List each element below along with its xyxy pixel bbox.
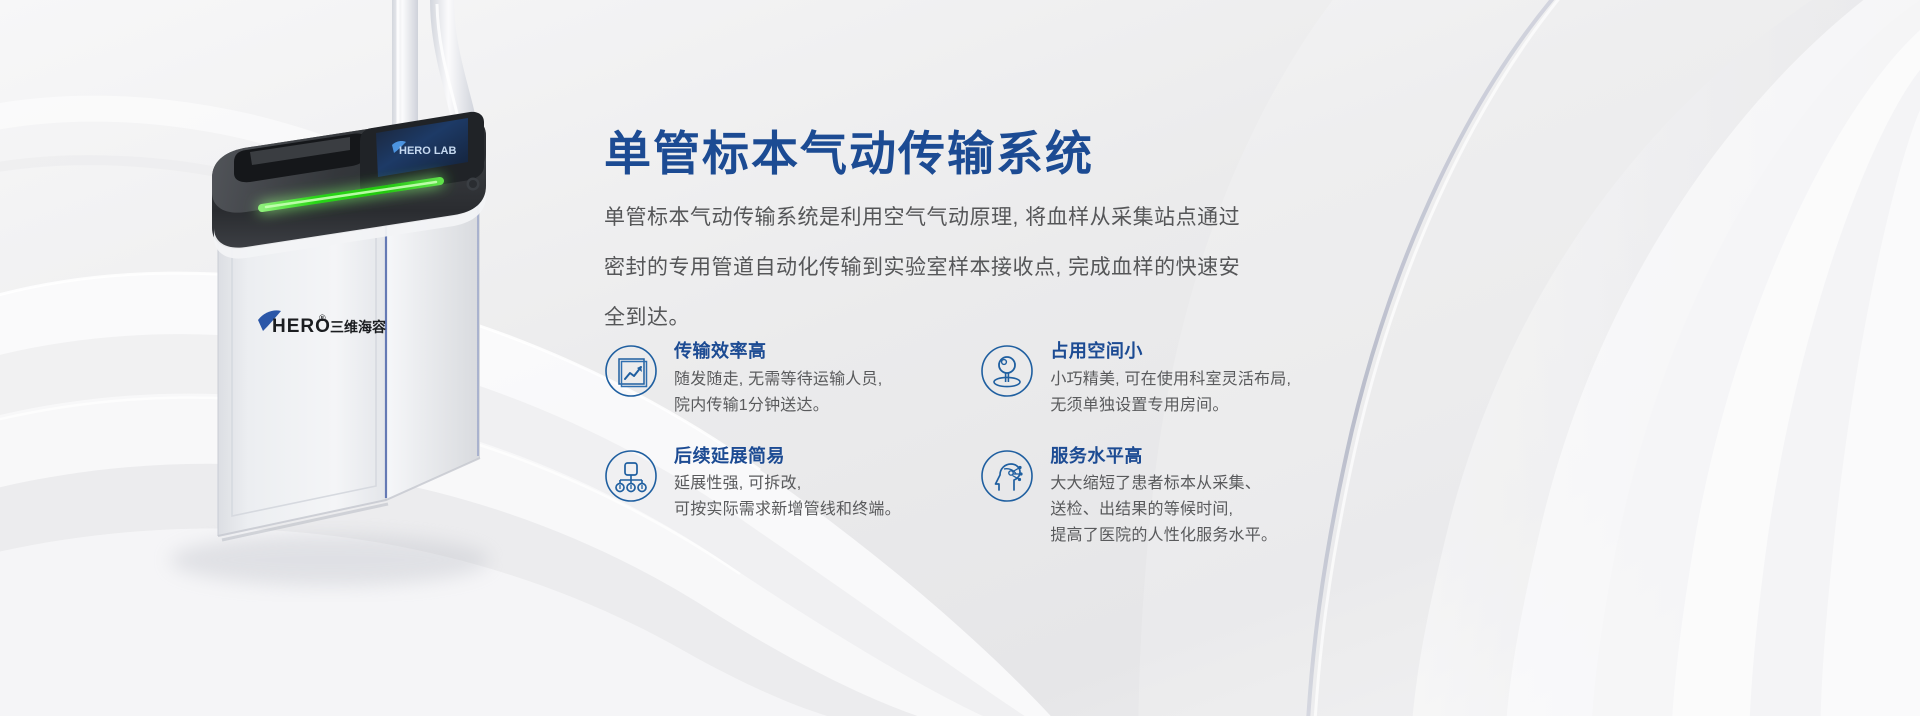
feature-item-service-level[interactable]: 服务水平高 大大缩短了患者标本从采集、 送检、出结果的等候时间, 提高了医院的人… — [980, 445, 1294, 550]
feature-text: 服务水平高 大大缩短了患者标本从采集、 送检、出结果的等候时间, 提高了医院的人… — [1050, 445, 1277, 550]
device-logo-registered: ® — [319, 313, 326, 323]
screen-logo-text: HERO LAB — [399, 145, 457, 157]
hero-content: 单管标本气动传输系统 单管标本气动传输系统是利用空气气动原理, 将血样从采集站点… — [604, 0, 1604, 716]
feature-heading: 后续延展简易 — [674, 446, 901, 467]
smart-head-icon — [980, 449, 1034, 503]
feature-body: 小巧精美, 可在使用科室灵活布局, 无须单独设置专用房间。 — [1050, 367, 1291, 419]
feature-body: 随发随走, 无需等待运输人员, 院内传输1分钟送达。 — [674, 367, 882, 419]
feature-row-1: 传输效率高 随发随走, 无需等待运输人员, 院内传输1分钟送达。 — [604, 340, 1294, 419]
feature-body: 大大缩短了患者标本从采集、 送检、出结果的等候时间, 提高了医院的人性化服务水平… — [1050, 471, 1277, 549]
feature-item-easy-expansion[interactable]: 后续延展简易 延展性强, 可拆改, 可按实际需求新增管线和终端。 — [604, 445, 980, 550]
pneumatic-tubes — [392, 0, 476, 126]
feature-body: 延展性强, 可拆改, 可按实际需求新增管线和终端。 — [674, 471, 901, 523]
device-svg: HERO LAB HERO ® 三维海容 — [0, 0, 620, 716]
feature-item-transfer-efficiency[interactable]: 传输效率高 随发随走, 无需等待运输人员, 院内传输1分钟送达。 — [604, 340, 980, 419]
chart-line-icon — [604, 344, 658, 398]
feature-text: 占用空间小 小巧精美, 可在使用科室灵活布局, 无须单独设置专用房间。 — [1050, 340, 1291, 419]
device-logo-cn: 三维海容 — [330, 319, 386, 336]
network-tree-icon — [604, 449, 658, 503]
feature-list: 传输效率高 随发随走, 无需等待运输人员, 院内传输1分钟送达。 — [604, 340, 1294, 549]
feature-heading: 服务水平高 — [1050, 446, 1277, 467]
feature-text: 后续延展简易 延展性强, 可拆改, 可按实际需求新增管线和终端。 — [674, 445, 901, 524]
feature-item-small-footprint[interactable]: 占用空间小 小巧精美, 可在使用科室灵活布局, 无须单独设置专用房间。 — [980, 340, 1294, 419]
feature-heading: 传输效率高 — [674, 341, 882, 362]
product-device-illustration: HERO LAB HERO ® 三维海容 — [0, 0, 620, 716]
feature-row-2: 后续延展简易 延展性强, 可拆改, 可按实际需求新增管线和终端。 — [604, 445, 1294, 550]
space-pin-icon — [980, 344, 1034, 398]
feature-heading: 占用空间小 — [1050, 341, 1291, 362]
page-title: 单管标本气动传输系统 — [604, 115, 1094, 184]
product-hero-banner: HERO LAB HERO ® 三维海容 — [0, 0, 1920, 716]
feature-text: 传输效率高 随发随走, 无需等待运输人员, 院内传输1分钟送达。 — [674, 340, 882, 419]
hero-description: 单管标本气动传输系统是利用空气气动原理, 将血样从采集站点通过密封的专用管道自动… — [604, 193, 1252, 343]
